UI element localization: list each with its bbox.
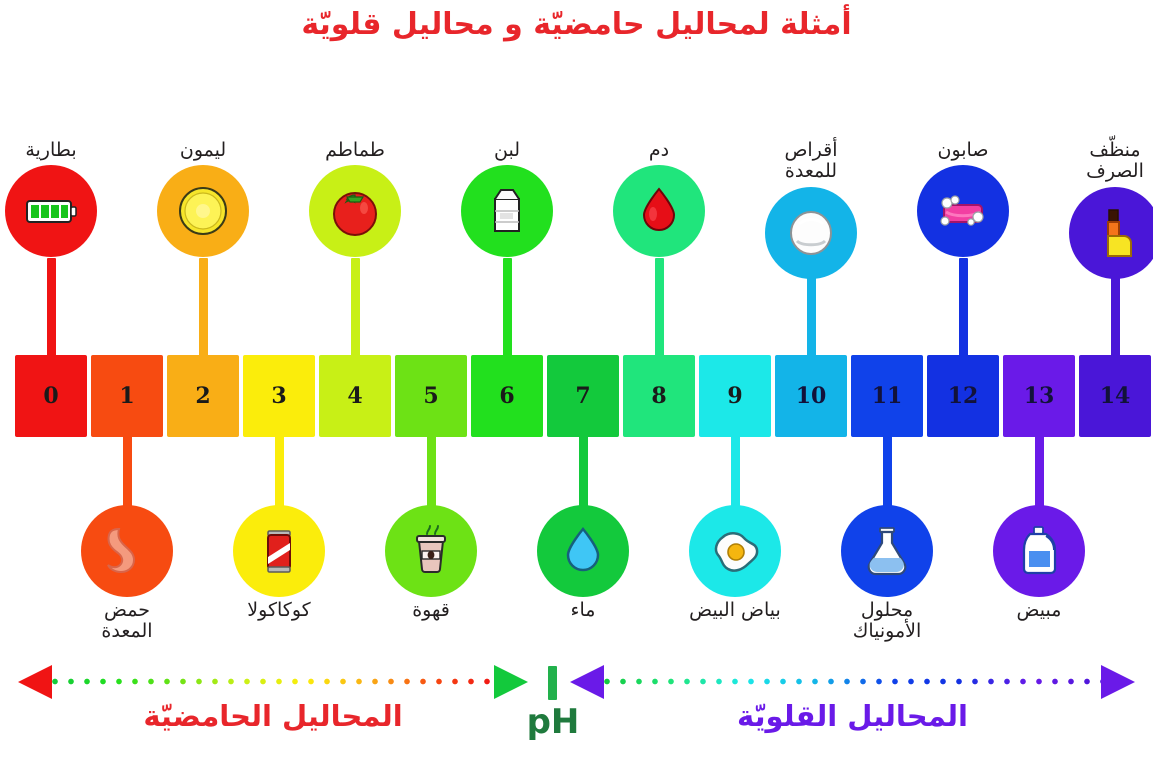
ph-cell-9[interactable]: 9 (699, 355, 771, 437)
example-label: محلول الأمونياك (812, 600, 962, 643)
ph-cell-2[interactable]: 2 (167, 355, 239, 437)
alkaline-arrow (570, 660, 1135, 704)
soda-can-icon (233, 505, 325, 597)
example-node-ph-0[interactable]: بطارية (0, 140, 126, 257)
ph-cell-13[interactable]: 13 (1003, 355, 1075, 437)
example-label: ليمون (128, 140, 278, 161)
ph-cell-value: 1 (119, 383, 134, 409)
water-drop-icon (537, 505, 629, 597)
ph-cell-value: 11 (872, 383, 903, 409)
ph-cell-0[interactable]: 0 (15, 355, 87, 437)
infographic-root: أمثلة لمحاليل حامضيّة و محاليل قلويّة بط… (0, 0, 1153, 760)
ph-cell-value: 5 (423, 383, 438, 409)
ph-cell-value: 2 (195, 383, 210, 409)
ph-cell-value: 13 (1024, 383, 1055, 409)
ph-scale: 01234567891011121314 (15, 355, 1140, 437)
connector-stem (655, 258, 664, 361)
alkaline-label: المحاليل القلويّة (570, 702, 1135, 731)
flask-icon (841, 505, 933, 597)
antacid-tablet-icon (765, 187, 857, 279)
bleach-bottle-icon (993, 505, 1085, 597)
example-label: حمض المعدة (52, 600, 202, 643)
example-node-ph-5[interactable]: قهوة (356, 505, 506, 621)
connector-stem (351, 258, 360, 361)
example-node-ph-13[interactable]: مبيض (964, 505, 1114, 621)
ph-cell-11[interactable]: 11 (851, 355, 923, 437)
example-node-ph-6[interactable]: لبن (432, 140, 582, 257)
ph-tick-mark (548, 666, 557, 700)
connector-stem (503, 258, 512, 361)
ph-cell-value: 7 (575, 383, 590, 409)
example-node-ph-9[interactable]: بياض البيض (660, 505, 810, 621)
ph-cell-value: 3 (271, 383, 286, 409)
example-node-ph-12[interactable]: صابون (888, 140, 1038, 257)
ph-cell-1[interactable]: 1 (91, 355, 163, 437)
ph-cell-value: 8 (651, 383, 666, 409)
example-label: بطارية (0, 140, 126, 161)
example-node-ph-1[interactable]: حمض المعدة (52, 505, 202, 643)
acidic-label: المحاليل الحامضيّة (18, 702, 528, 731)
ph-cell-4[interactable]: 4 (319, 355, 391, 437)
soap-bar-icon (917, 165, 1009, 257)
ph-cell-14[interactable]: 14 (1079, 355, 1151, 437)
ph-cell-6[interactable]: 6 (471, 355, 543, 437)
stomach-icon (81, 505, 173, 597)
ph-axis-label: pH (505, 702, 601, 742)
acidic-arrow (18, 660, 528, 704)
example-node-ph-8[interactable]: دم (584, 140, 734, 257)
lemon-icon (157, 165, 249, 257)
ph-cell-7[interactable]: 7 (547, 355, 619, 437)
connector-stem (199, 258, 208, 361)
example-node-ph-4[interactable]: طماطم (280, 140, 430, 257)
battery-icon (5, 165, 97, 257)
example-label: منظّف الصرف (1040, 140, 1153, 183)
example-label: صابون (888, 140, 1038, 161)
page-title: أمثلة لمحاليل حامضيّة و محاليل قلويّة (0, 6, 1153, 44)
ph-cell-12[interactable]: 12 (927, 355, 999, 437)
milk-carton-icon (461, 165, 553, 257)
ph-cell-5[interactable]: 5 (395, 355, 467, 437)
example-label: ماء (508, 600, 658, 621)
example-label: أقراص للمعدة (736, 140, 886, 183)
ph-cell-value: 0 (43, 383, 58, 409)
example-label: طماطم (280, 140, 430, 161)
example-node-ph-3[interactable]: كوكاكولا (204, 505, 354, 621)
example-node-ph-7[interactable]: ماء (508, 505, 658, 621)
example-label: دم (584, 140, 734, 161)
example-node-ph-2[interactable]: ليمون (128, 140, 278, 257)
blood-drop-icon (613, 165, 705, 257)
ph-cell-value: 4 (347, 383, 362, 409)
example-node-ph-11[interactable]: محلول الأمونياك (812, 505, 962, 643)
example-node-ph-14[interactable]: منظّف الصرف (1040, 140, 1153, 279)
connector-stem (47, 258, 56, 361)
coffee-cup-icon (385, 505, 477, 597)
example-label: لبن (432, 140, 582, 161)
ph-cell-8[interactable]: 8 (623, 355, 695, 437)
example-label: قهوة (356, 600, 506, 621)
ph-cell-value: 14 (1100, 383, 1131, 409)
ph-cell-value: 10 (796, 383, 827, 409)
ph-cell-value: 9 (727, 383, 742, 409)
tomato-icon (309, 165, 401, 257)
example-node-ph-10[interactable]: أقراص للمعدة (736, 140, 886, 279)
drain-cleaner-icon (1069, 187, 1153, 279)
example-label: مبيض (964, 600, 1114, 621)
ph-cell-10[interactable]: 10 (775, 355, 847, 437)
example-label: بياض البيض (660, 600, 810, 621)
example-label: كوكاكولا (204, 600, 354, 621)
ph-cell-value: 6 (499, 383, 514, 409)
ph-cell-value: 12 (948, 383, 979, 409)
egg-white-icon (689, 505, 781, 597)
ph-cell-3[interactable]: 3 (243, 355, 315, 437)
connector-stem (959, 258, 968, 361)
